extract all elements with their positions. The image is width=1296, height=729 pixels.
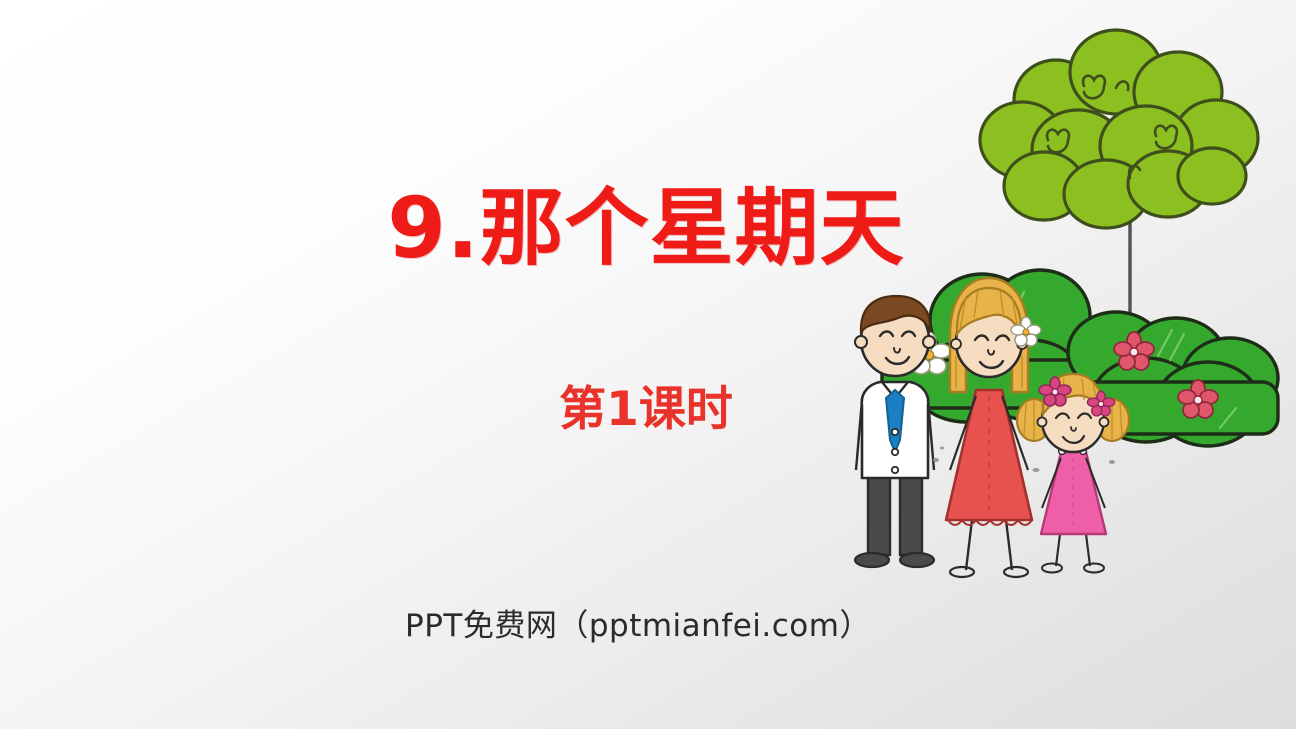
footer-credit: PPT免费网（pptmianfei.com）: [0, 600, 1286, 645]
presentation-slide: 9.那个星期天 第1课时 PPT免费网（pptmianfei.com）: [0, 0, 1296, 729]
family-and-tree-illustration: [816, 0, 1296, 620]
lesson-period-subtitle: 第1课时: [0, 382, 1294, 438]
